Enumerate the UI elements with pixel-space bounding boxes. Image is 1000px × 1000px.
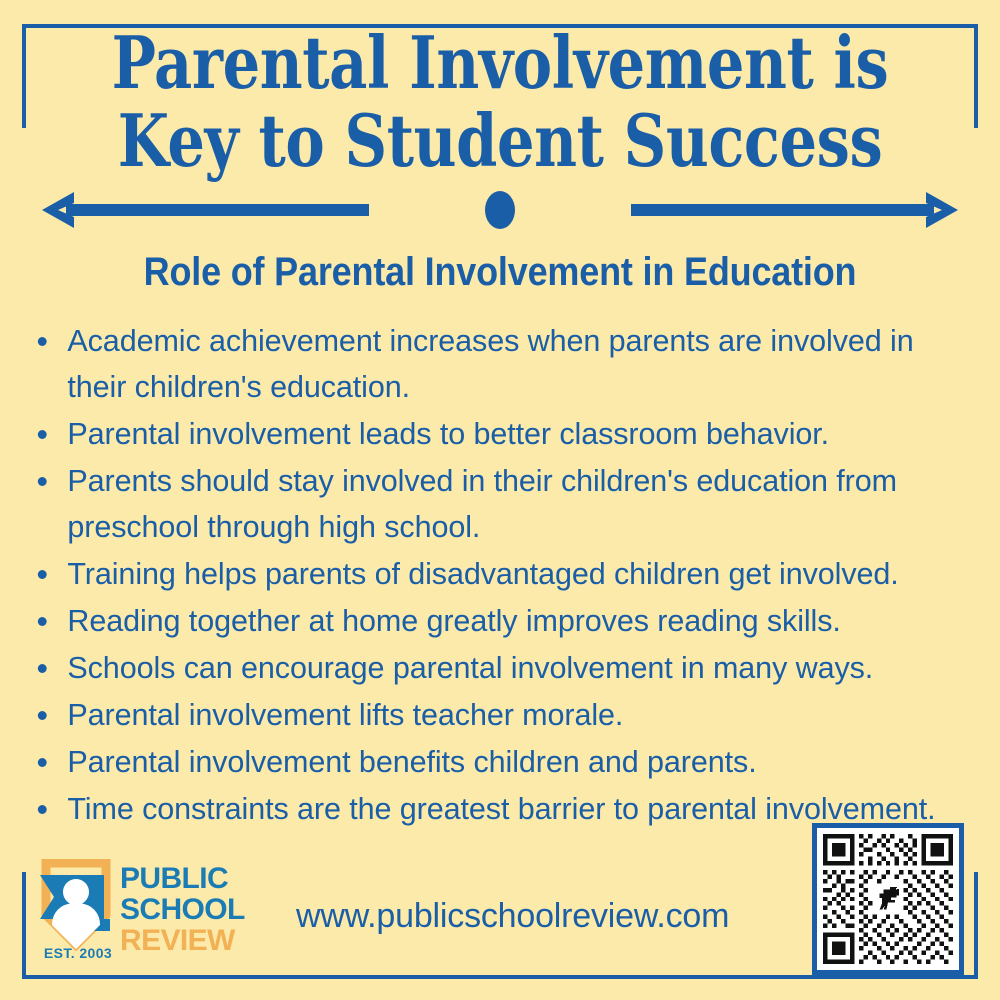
arrow-left-icon — [42, 192, 369, 228]
bullet-dot-icon — [38, 570, 47, 579]
brand-logo[interactable]: PUBLIC SCHOOL REVIEW EST. 2003 — [32, 859, 282, 967]
website-url[interactable]: www.publicschoolreview.com — [296, 897, 729, 935]
page-title: Parental Involvement is Key to Student S… — [0, 24, 1000, 180]
list-item-text: Academic achievement increases when pare… — [67, 323, 913, 404]
bullet-dot-icon — [38, 758, 47, 767]
bullet-dot-icon — [38, 711, 47, 720]
list-item: Training helps parents of disadvantaged … — [26, 551, 964, 597]
list-item: Parental involvement leads to better cla… — [26, 411, 964, 457]
center-dot-icon — [485, 191, 515, 229]
fact-list: Academic achievement increases when pare… — [26, 318, 978, 833]
list-item-text: Parental involvement leads to better cla… — [67, 416, 829, 451]
list-item-text: Time constraints are the greatest barrie… — [67, 791, 935, 826]
arrow-divider — [0, 188, 1000, 234]
list-item-text: Reading together at home greatly improve… — [67, 603, 840, 638]
list-item-text: Schools can encourage parental involveme… — [67, 650, 873, 685]
list-item-text: Parental involvement lifts teacher moral… — [67, 697, 623, 732]
logo-established-text: EST. 2003 — [36, 945, 120, 961]
bullet-dot-icon — [38, 477, 47, 486]
title-line-2: Key to Student Success — [90, 102, 910, 180]
bullet-dot-icon — [38, 430, 47, 439]
logo-word-school: SCHOOL — [120, 894, 292, 925]
logo-word-review: REVIEW — [120, 925, 292, 956]
list-item: Parental involvement benefits children a… — [26, 739, 964, 785]
section-subtitle: Role of Parental Involvement in Educatio… — [50, 250, 950, 294]
list-item: Academic achievement increases when pare… — [26, 318, 964, 410]
list-item-text: Parents should stay involved in their ch… — [67, 463, 897, 544]
list-item: Schools can encourage parental involveme… — [26, 645, 964, 691]
bullet-dot-icon — [38, 617, 47, 626]
list-item: Parents should stay involved in their ch… — [26, 458, 964, 550]
title-line-1: Parental Involvement is — [90, 24, 910, 102]
list-item: Parental involvement lifts teacher moral… — [26, 692, 964, 738]
list-item-text: Parental involvement benefits children a… — [67, 744, 756, 779]
logo-wordmark: PUBLIC SCHOOL REVIEW — [120, 863, 292, 956]
list-item: Reading together at home greatly improve… — [26, 598, 964, 644]
bullet-dot-icon — [38, 664, 47, 673]
poster-canvas: Parental Involvement is Key to Student S… — [0, 0, 1000, 1000]
bullet-dot-icon — [38, 337, 47, 346]
list-item-text: Training helps parents of disadvantaged … — [67, 556, 898, 591]
qr-code[interactable] — [812, 823, 964, 975]
logo-word-public: PUBLIC — [120, 863, 292, 894]
arrow-right-icon — [631, 192, 958, 228]
bullet-dot-icon — [38, 805, 47, 814]
footer: PUBLIC SCHOOL REVIEW EST. 2003 www.publi… — [0, 845, 1000, 975]
frame-bottom-rule — [22, 975, 978, 979]
